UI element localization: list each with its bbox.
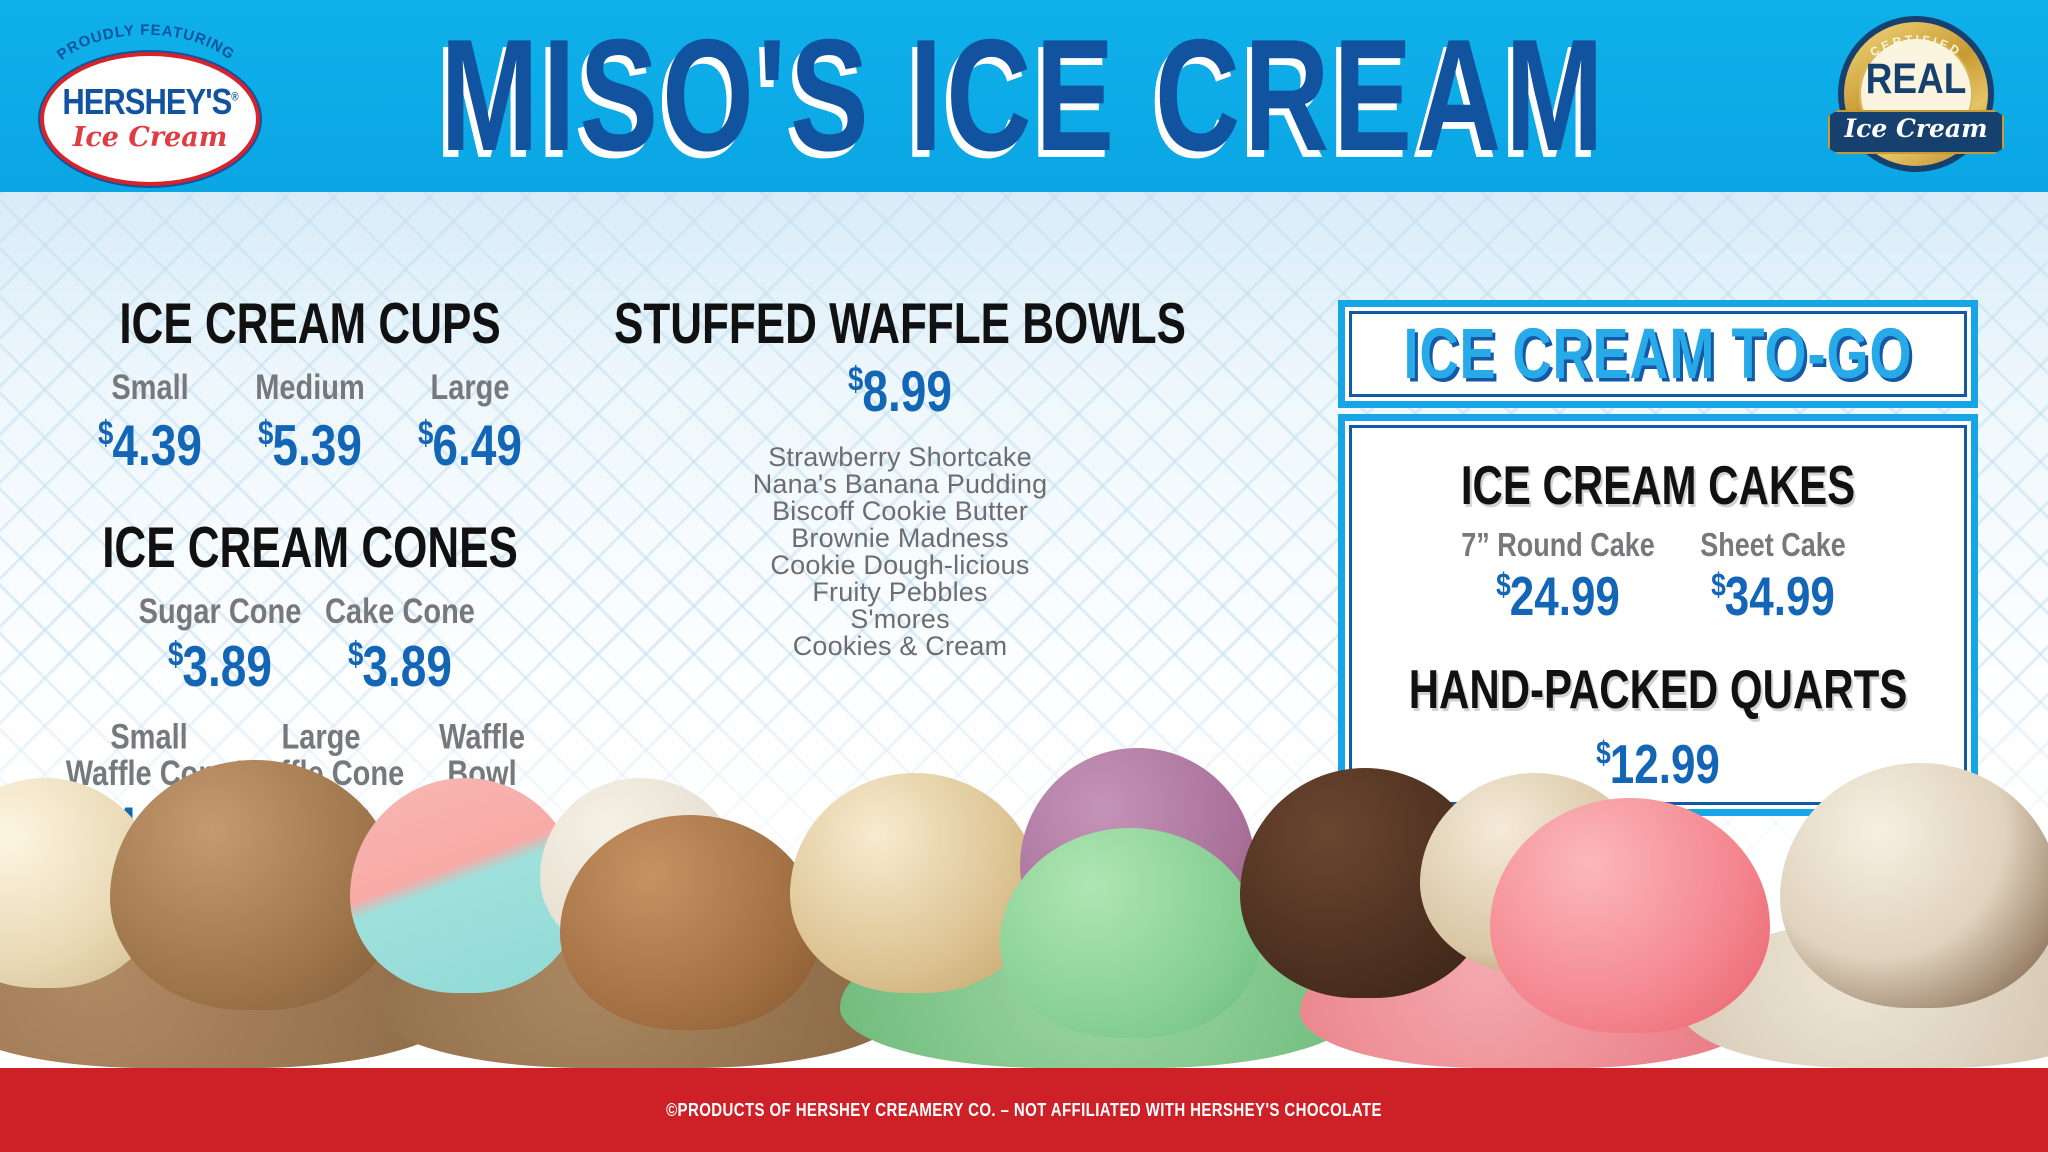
list-item: Biscoff Cookie Butter — [590, 498, 1210, 525]
list-item: Brownie Madness — [590, 525, 1210, 552]
price-value: 5.39 — [272, 412, 362, 476]
currency-symbol: $ — [98, 413, 112, 451]
cakes-item-round: 7” Round Cake $24.99 — [1443, 532, 1673, 622]
ice-cream-scoops-photo — [0, 738, 2048, 1068]
price-value: 34.99 — [1725, 566, 1835, 627]
seal-ribbon: Ice Cream — [1828, 110, 2004, 154]
list-item: Cookie Dough-licious — [590, 552, 1210, 579]
currency-symbol: $ — [348, 635, 362, 673]
cake-cone-label: Cake Cone — [310, 594, 490, 630]
price-value: 3.89 — [362, 634, 452, 698]
price-value: 6.49 — [432, 412, 522, 476]
cakes-price-row: 7” Round Cake $24.99 Sheet Cake $34.99 — [1352, 532, 1964, 622]
cups-price-row: Small $4.39 Medium $5.39 Large $6.49 — [60, 374, 560, 472]
footer-bar: ©PRODUCTS OF HERSHEY CREAMERY CO. – NOT … — [0, 1068, 2048, 1152]
middle-menu-column: STUFFED WAFFLE BOWLS $8.99 Strawberry Sh… — [590, 300, 1210, 660]
heading-ice-cream-cups: ICE CREAM CUPS — [60, 293, 560, 358]
cups-medium-price: $5.39 — [230, 411, 390, 478]
cake-cone-price: $3.89 — [310, 633, 490, 700]
list-item: Strawberry Shortcake — [590, 444, 1210, 471]
footer-disclaimer: ©PRODUCTS OF HERSHEY CREAMERY CO. – NOT … — [666, 1099, 1382, 1120]
list-item: Nana's Banana Pudding — [590, 471, 1210, 498]
sheet-cake-label: Sheet Cake — [1673, 529, 1873, 563]
header-bar: PROUDLY FEATURING HERSHEY'S® Ice Cream M… — [0, 0, 2048, 192]
currency-symbol: $ — [848, 360, 862, 398]
to-go-title: ICE CREAM TO-GO — [1403, 313, 1912, 395]
list-item: Fruity Pebbles — [590, 579, 1210, 606]
price-value: 3.89 — [182, 634, 272, 698]
cones-item-cake-cone: Cake Cone $3.89 — [310, 598, 490, 694]
sugar-cone-label: Sugar Cone — [130, 594, 310, 630]
list-item: S'mores — [590, 606, 1210, 633]
page-title: MISO'S ICE CREAM — [0, 0, 2048, 226]
price-value: 4.39 — [112, 412, 202, 476]
to-go-title-inner-border: ICE CREAM TO-GO — [1349, 311, 1967, 397]
certified-real-ice-cream-seal: CERTIFIED REAL Ice Cream — [1830, 14, 2002, 180]
stuffed-waffle-bowl-price: $8.99 — [590, 358, 1210, 425]
round-cake-price: $24.99 — [1443, 565, 1673, 628]
cakes-item-sheet: Sheet Cake $34.99 — [1673, 532, 1873, 622]
currency-symbol: $ — [418, 413, 432, 451]
price-value: 24.99 — [1510, 566, 1620, 627]
heading-hand-packed-quarts: HAND-PACKED QUARTS — [1352, 659, 1964, 721]
menu-board: PROUDLY FEATURING HERSHEY'S® Ice Cream M… — [0, 0, 2048, 1152]
cups-medium-label: Medium — [230, 371, 390, 407]
currency-symbol: $ — [1496, 565, 1510, 602]
cups-small-label: Small — [70, 371, 230, 407]
scoop-strawberry — [1490, 798, 1770, 1033]
price-value: 8.99 — [862, 359, 952, 423]
to-go-title-box: ICE CREAM TO-GO — [1338, 300, 1978, 408]
stuffed-waffle-bowl-flavor-list: Strawberry Shortcake Nana's Banana Puddi… — [590, 444, 1210, 660]
cups-large-price: $6.49 — [390, 411, 550, 478]
list-item: Cookies & Cream — [590, 633, 1210, 660]
round-cake-label: 7” Round Cake — [1443, 529, 1673, 563]
cones-price-row-1: Sugar Cone $3.89 Cake Cone $3.89 — [60, 598, 560, 694]
cups-small-price: $4.39 — [70, 411, 230, 478]
cones-item-sugar-cone: Sugar Cone $3.89 — [130, 598, 310, 694]
heading-ice-cream-cones: ICE CREAM CONES — [60, 516, 560, 581]
cups-large-label: Large — [390, 371, 550, 407]
currency-symbol: $ — [258, 413, 272, 451]
seal-real-text: REAL — [1859, 55, 1973, 103]
scoop-cookies-cream-fudge — [1780, 763, 2048, 1008]
cups-item-large: Large $6.49 — [390, 374, 550, 472]
sheet-cake-price: $34.99 — [1673, 565, 1873, 628]
ice-cream-to-go-panel: ICE CREAM TO-GO ICE CREAM CAKES 7” Round… — [1338, 300, 1978, 648]
scoop-chocolate-caramel — [560, 815, 820, 1030]
cups-item-medium: Medium $5.39 — [230, 374, 390, 472]
currency-symbol: $ — [168, 635, 182, 673]
seal-ribbon-text: Ice Cream — [1828, 114, 2004, 143]
cups-item-small: Small $4.39 — [70, 374, 230, 472]
currency-symbol: $ — [1711, 565, 1725, 602]
heading-stuffed-waffle-bowls: STUFFED WAFFLE BOWLS — [590, 293, 1210, 358]
sugar-cone-price: $3.89 — [130, 633, 310, 700]
heading-ice-cream-cakes: ICE CREAM CAKES — [1352, 455, 1964, 517]
